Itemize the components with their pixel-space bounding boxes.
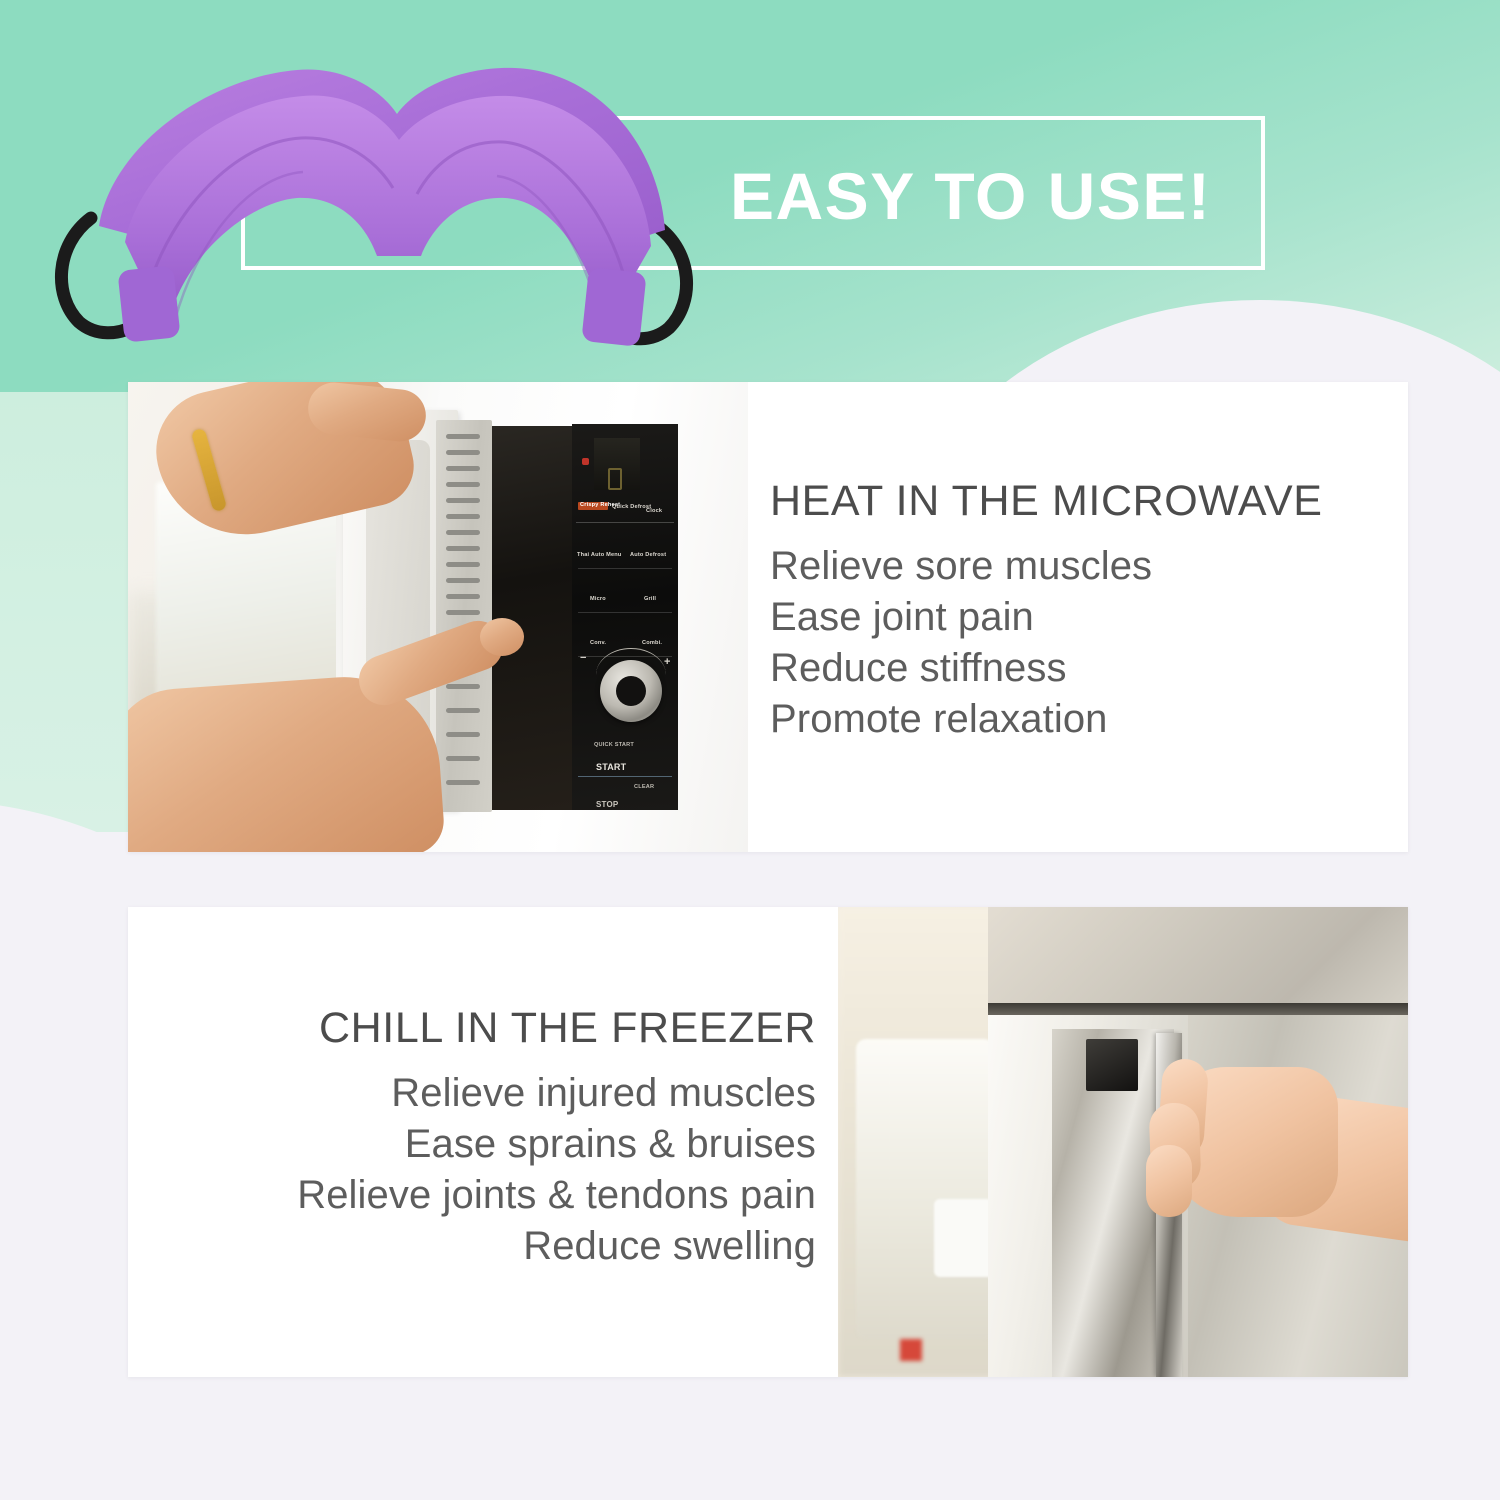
button-stop[interactable]: STOP — [596, 800, 618, 809]
fridge-door-gap — [988, 1003, 1408, 1015]
heat-section-title: HEAT IN THE MICROWAVE — [770, 478, 1408, 525]
button-thai-auto-menu[interactable]: Thai Auto Menu — [577, 552, 622, 558]
section-card-heat: Crispy Reheat Quick Defrost Clock Thai A… — [128, 382, 1408, 852]
button-quick-defrost[interactable]: Quick Defrost — [612, 504, 640, 510]
dial-minus-icon[interactable]: − — [580, 652, 586, 664]
fingertip — [480, 618, 524, 656]
display-digit — [608, 468, 622, 490]
heat-benefit-1: Relieve sore muscles — [770, 541, 1408, 592]
heat-benefit-2: Ease joint pain — [770, 592, 1408, 643]
wrap-end-left — [117, 265, 180, 342]
button-combi[interactable]: Combi. — [642, 640, 662, 646]
heat-text-column: HEAT IN THE MICROWAVE Relieve sore muscl… — [748, 382, 1408, 852]
button-micro[interactable]: Micro — [590, 596, 606, 602]
button-quick-start[interactable]: QUICK START — [594, 742, 634, 748]
fridge-handle-cap — [1086, 1039, 1138, 1091]
heat-benefit-4: Promote relaxation — [770, 694, 1408, 745]
heat-benefit-3: Reduce stiffness — [770, 643, 1408, 694]
fridge-interior-box — [934, 1199, 994, 1277]
chill-text-column: CHILL IN THE FREEZER Relieve injured mus… — [128, 907, 838, 1377]
chill-benefit-4: Reduce swelling — [128, 1221, 816, 1272]
button-start[interactable]: START — [596, 762, 626, 772]
microwave-vent-grille — [436, 420, 492, 812]
button-conv[interactable]: Conv. — [590, 640, 606, 646]
microwave-photo: Crispy Reheat Quick Defrost Clock Thai A… — [128, 382, 748, 852]
finger-ring — [1146, 1145, 1192, 1217]
product-image — [45, 30, 705, 350]
chill-section-title: CHILL IN THE FREEZER — [128, 1005, 816, 1052]
section-card-chill: CHILL IN THE FREEZER Relieve injured mus… — [128, 907, 1408, 1377]
button-auto-defrost[interactable]: Auto Defrost — [630, 552, 666, 558]
dial-plus-icon[interactable]: + — [664, 656, 670, 668]
hero-title: EASY TO USE! — [730, 152, 1260, 240]
fridge-upper-compartment — [988, 907, 1408, 1009]
wrap-end-right — [581, 267, 646, 347]
microwave-control-panel[interactable]: Crispy Reheat Quick Defrost Clock Thai A… — [572, 424, 678, 810]
chill-benefit-2: Ease sprains & bruises — [128, 1119, 816, 1170]
button-grill[interactable]: Grill — [644, 596, 656, 602]
button-clear[interactable]: CLEAR — [634, 784, 654, 790]
microwave-dial[interactable] — [600, 660, 662, 722]
fridge-interior-shelf — [856, 1039, 994, 1339]
chill-benefit-1: Relieve injured muscles — [128, 1068, 816, 1119]
button-crispy-reheat[interactable]: Crispy Reheat — [578, 502, 608, 510]
chill-benefit-3: Relieve joints & tendons pain — [128, 1170, 816, 1221]
purple-wrap-illustration — [45, 30, 705, 350]
refrigerator-photo — [838, 907, 1408, 1377]
indicator-led — [582, 458, 589, 465]
button-clock[interactable]: Clock — [646, 508, 662, 514]
fridge-red-item — [900, 1339, 922, 1361]
infographic-canvas: EASY TO USE! — [0, 0, 1500, 1500]
